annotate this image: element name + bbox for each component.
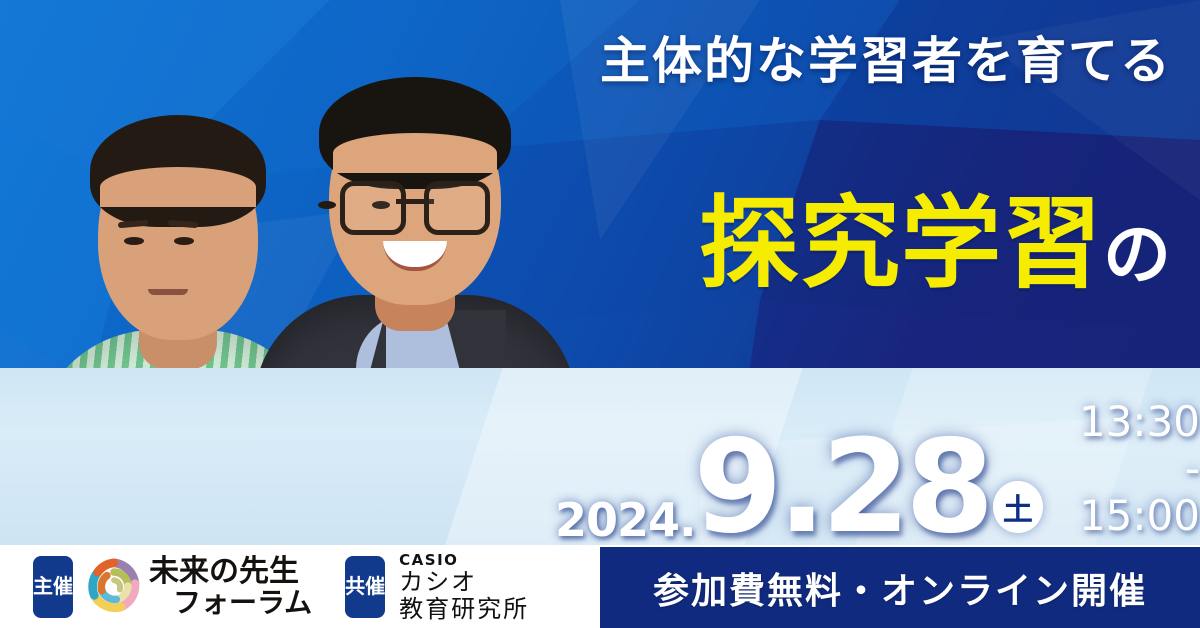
host-logo: 未来の先生 フォーラム <box>85 556 312 616</box>
event-date: 2024. 9.28 土 13:30 - 15:00 <box>555 398 1200 543</box>
footer-organizers: 主催 <box>0 545 529 628</box>
event-time-start: 13:30 - <box>1059 398 1200 492</box>
cohost-badge-label: 共催 <box>345 576 385 598</box>
host-badge-label: 主催 <box>33 576 73 598</box>
cohost-logo: CASIO カシオ 教育研究所 <box>399 551 529 623</box>
event-month-day: 9.28 <box>694 433 990 543</box>
headline-highlight: 探究学習 <box>699 185 1103 302</box>
host-badge: 主催 <box>33 556 73 618</box>
footer-notice: 参加費無料・オンライン開催 <box>600 547 1200 628</box>
event-time-end: 15:00 <box>1059 492 1200 539</box>
host-logo-line-2: フォーラム <box>149 586 312 619</box>
glasses-icon <box>340 181 490 227</box>
swirl-logo-icon <box>85 557 143 615</box>
host-logo-line-1: 未来の先生 <box>149 554 299 589</box>
cohost-badge: 共催 <box>345 556 385 618</box>
headline-suffix: の <box>1103 216 1172 295</box>
footer: 主催 <box>0 545 1200 628</box>
footer-notice-text: 参加費無料・オンライン開催 <box>653 562 1147 614</box>
headline-line-2: 探究学習の <box>484 94 1172 394</box>
cohost-name-line-2: 教育研究所 <box>399 596 529 623</box>
cohost-name-line-1: カシオ <box>399 569 529 596</box>
event-day-of-week-badge: 土 <box>993 481 1042 533</box>
event-year: 2024. <box>555 499 696 543</box>
cohost-brand: CASIO <box>399 551 529 569</box>
seminar-banner: 主体的な学習者を育てる 探究学習の デザイン カシオ計算機株式会社・ カシオ教育… <box>0 0 1200 628</box>
event-time: 13:30 - 15:00 <box>1059 398 1200 539</box>
host-logo-text: 未来の先生 フォーラム <box>149 556 312 616</box>
headline-line-1: 主体的な学習者を育てる <box>484 36 1172 86</box>
